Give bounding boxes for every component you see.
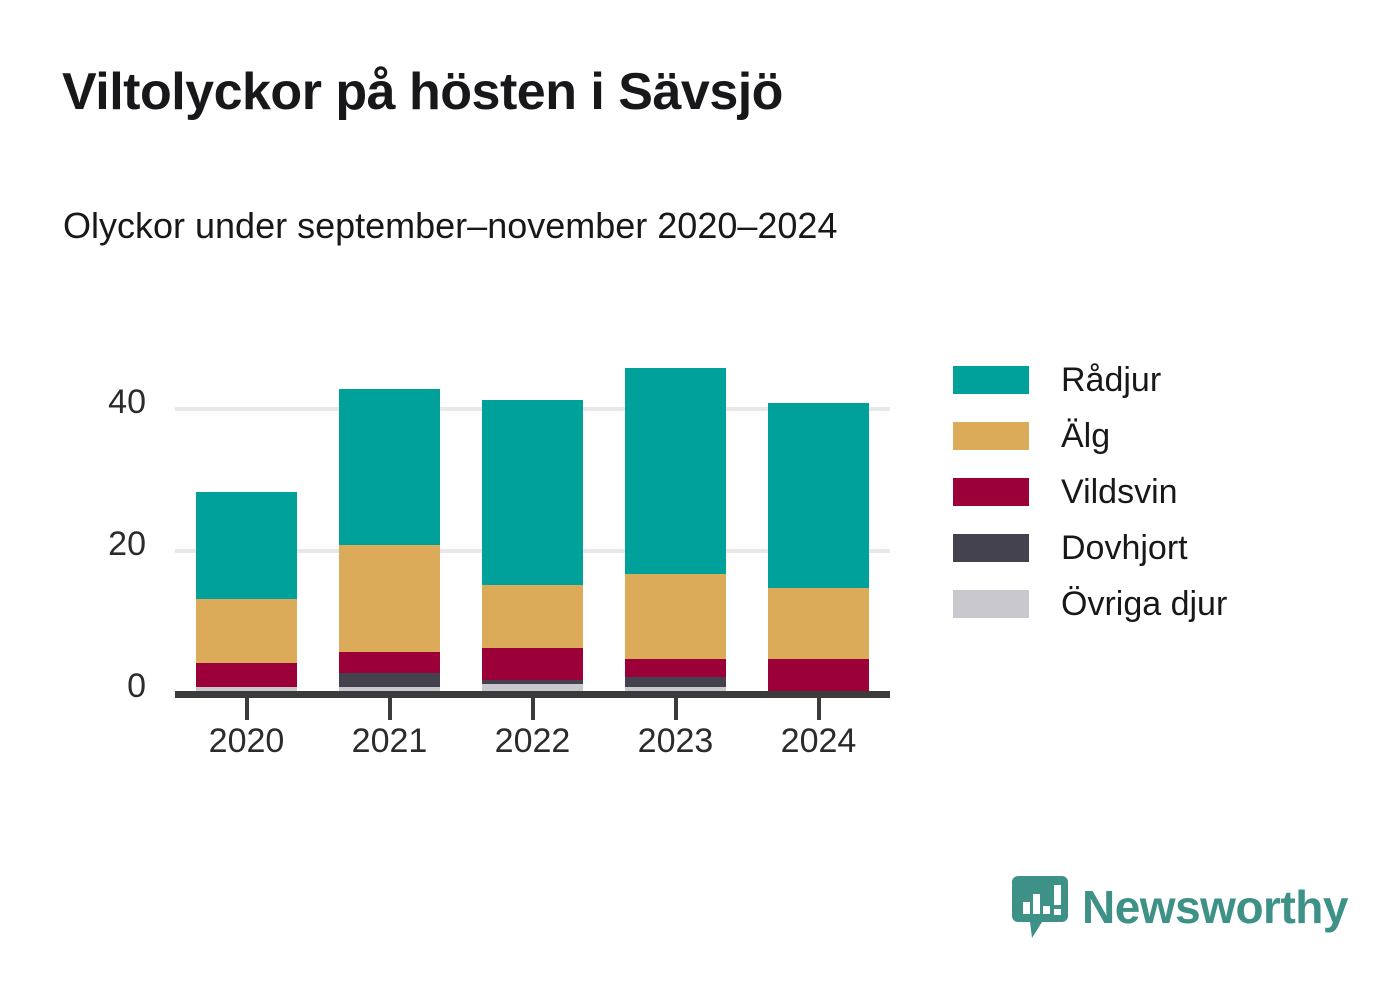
legend-item-övriga-djur[interactable]: Övriga djur bbox=[953, 576, 1227, 632]
legend-swatch-icon bbox=[953, 366, 1029, 394]
bar-segment-älg[interactable] bbox=[196, 599, 297, 663]
bar-segment-älg[interactable] bbox=[625, 574, 726, 659]
x-axis-line bbox=[175, 691, 890, 698]
legend-label: Dovhjort bbox=[1061, 529, 1188, 568]
x-axis-tick-mark bbox=[245, 698, 249, 720]
bar-stack-2022[interactable] bbox=[482, 400, 583, 691]
bar-segment-rådjur[interactable] bbox=[339, 389, 440, 545]
legend-label: Vildsvin bbox=[1061, 473, 1178, 512]
bar-stack-2021[interactable] bbox=[339, 389, 440, 691]
x-axis-tick-label-2021: 2021 bbox=[320, 722, 460, 761]
bar-segment-älg[interactable] bbox=[768, 588, 869, 659]
legend-swatch-icon bbox=[953, 422, 1029, 450]
y-axis-tick-label: 40 bbox=[76, 383, 146, 422]
legend-label: Rådjur bbox=[1061, 361, 1161, 400]
x-axis-tick-mark bbox=[531, 698, 535, 720]
x-axis-tick-label-2023: 2023 bbox=[606, 722, 746, 761]
bar-segment-älg[interactable] bbox=[482, 585, 583, 649]
bar-segment-vildsvin[interactable] bbox=[196, 663, 297, 688]
bar-segment-rådjur[interactable] bbox=[482, 400, 583, 585]
x-axis-tick-label-2020: 2020 bbox=[177, 722, 317, 761]
legend-swatch-icon bbox=[953, 590, 1029, 618]
bar-stack-2023[interactable] bbox=[625, 368, 726, 691]
y-axis-tick-label: 0 bbox=[76, 667, 146, 706]
legend-item-dovhjort[interactable]: Dovhjort bbox=[953, 520, 1227, 576]
bar-segment-rådjur[interactable] bbox=[196, 492, 297, 599]
x-axis-tick-label-2024: 2024 bbox=[749, 722, 889, 761]
bar-segment-vildsvin[interactable] bbox=[625, 659, 726, 677]
bar-segment-rådjur[interactable] bbox=[768, 403, 869, 588]
speech-bubble-bar-chart-icon bbox=[1012, 876, 1068, 938]
legend-item-vildsvin[interactable]: Vildsvin bbox=[953, 464, 1227, 520]
x-axis-tick-label-2022: 2022 bbox=[463, 722, 603, 761]
chart-legend: RådjurÄlgVildsvinDovhjortÖvriga djur bbox=[953, 352, 1227, 632]
y-axis-tick-label: 20 bbox=[76, 525, 146, 564]
bar-stack-2024[interactable] bbox=[768, 403, 869, 691]
legend-item-älg[interactable]: Älg bbox=[953, 408, 1227, 464]
x-axis-tick-mark bbox=[388, 698, 392, 720]
bar-segment-övriga-djur[interactable] bbox=[482, 684, 583, 691]
bar-segment-vildsvin[interactable] bbox=[768, 659, 869, 691]
legend-label: Älg bbox=[1061, 417, 1110, 456]
bar-segment-dovhjort[interactable] bbox=[339, 673, 440, 687]
newsworthy-logo: Newsworthy bbox=[1012, 876, 1348, 938]
bar-segment-älg[interactable] bbox=[339, 545, 440, 652]
legend-item-rådjur[interactable]: Rådjur bbox=[953, 352, 1227, 408]
bar-segment-dovhjort[interactable] bbox=[625, 677, 726, 688]
x-axis-tick-mark bbox=[674, 698, 678, 720]
bar-segment-rådjur[interactable] bbox=[625, 368, 726, 574]
legend-swatch-icon bbox=[953, 534, 1029, 562]
x-axis-tick-mark bbox=[817, 698, 821, 720]
bar-segment-vildsvin[interactable] bbox=[339, 652, 440, 673]
legend-swatch-icon bbox=[953, 478, 1029, 506]
logo-wordmark: Newsworthy bbox=[1082, 880, 1348, 934]
bar-stack-2020[interactable] bbox=[196, 492, 297, 691]
bar-segment-vildsvin[interactable] bbox=[482, 648, 583, 680]
legend-label: Övriga djur bbox=[1061, 585, 1227, 624]
